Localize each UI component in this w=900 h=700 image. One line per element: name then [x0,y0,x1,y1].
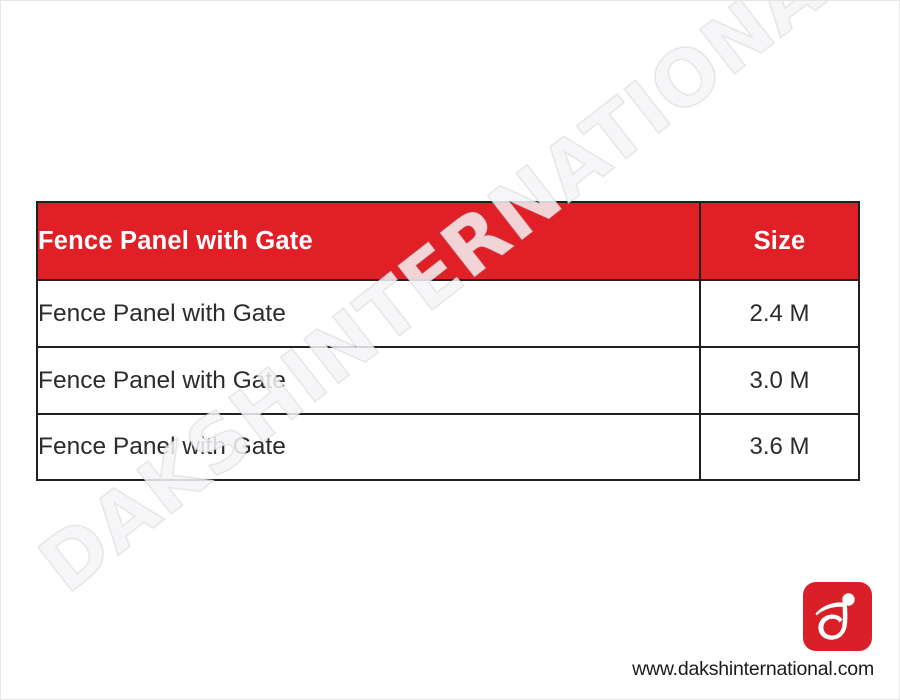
column-header-product-name: Fence Panel with Gate [37,202,700,280]
cell-size: 2.4 M [700,280,859,347]
table-row: Fence Panel with Gate 2.4 M [37,280,859,347]
specification-table: Fence Panel with Gate Size Fence Panel w… [36,201,860,481]
cell-size: 3.6 M [700,414,859,480]
daksh-d-logo-icon [803,582,872,651]
page-canvas: DAKSHINTERNATIONAL DAKSHINTERNATIONAL Fe… [0,0,900,700]
column-header-size: Size [700,202,859,280]
cell-product-name: Fence Panel with Gate [37,347,700,414]
table-body: Fence Panel with Gate 2.4 M Fence Panel … [37,280,859,480]
footer-branding: www.dakshinternational.com [632,582,874,681]
brand-website-url: www.dakshinternational.com [632,658,874,681]
cell-size: 3.0 M [700,347,859,414]
cell-product-name: Fence Panel with Gate [37,280,700,347]
table-row: Fence Panel with Gate 3.0 M [37,347,859,414]
table-header-row: Fence Panel with Gate Size [37,202,859,280]
table-row: Fence Panel with Gate 3.6 M [37,414,859,480]
table-header: Fence Panel with Gate Size [37,202,859,280]
cell-product-name: Fence Panel with Gate [37,414,700,480]
